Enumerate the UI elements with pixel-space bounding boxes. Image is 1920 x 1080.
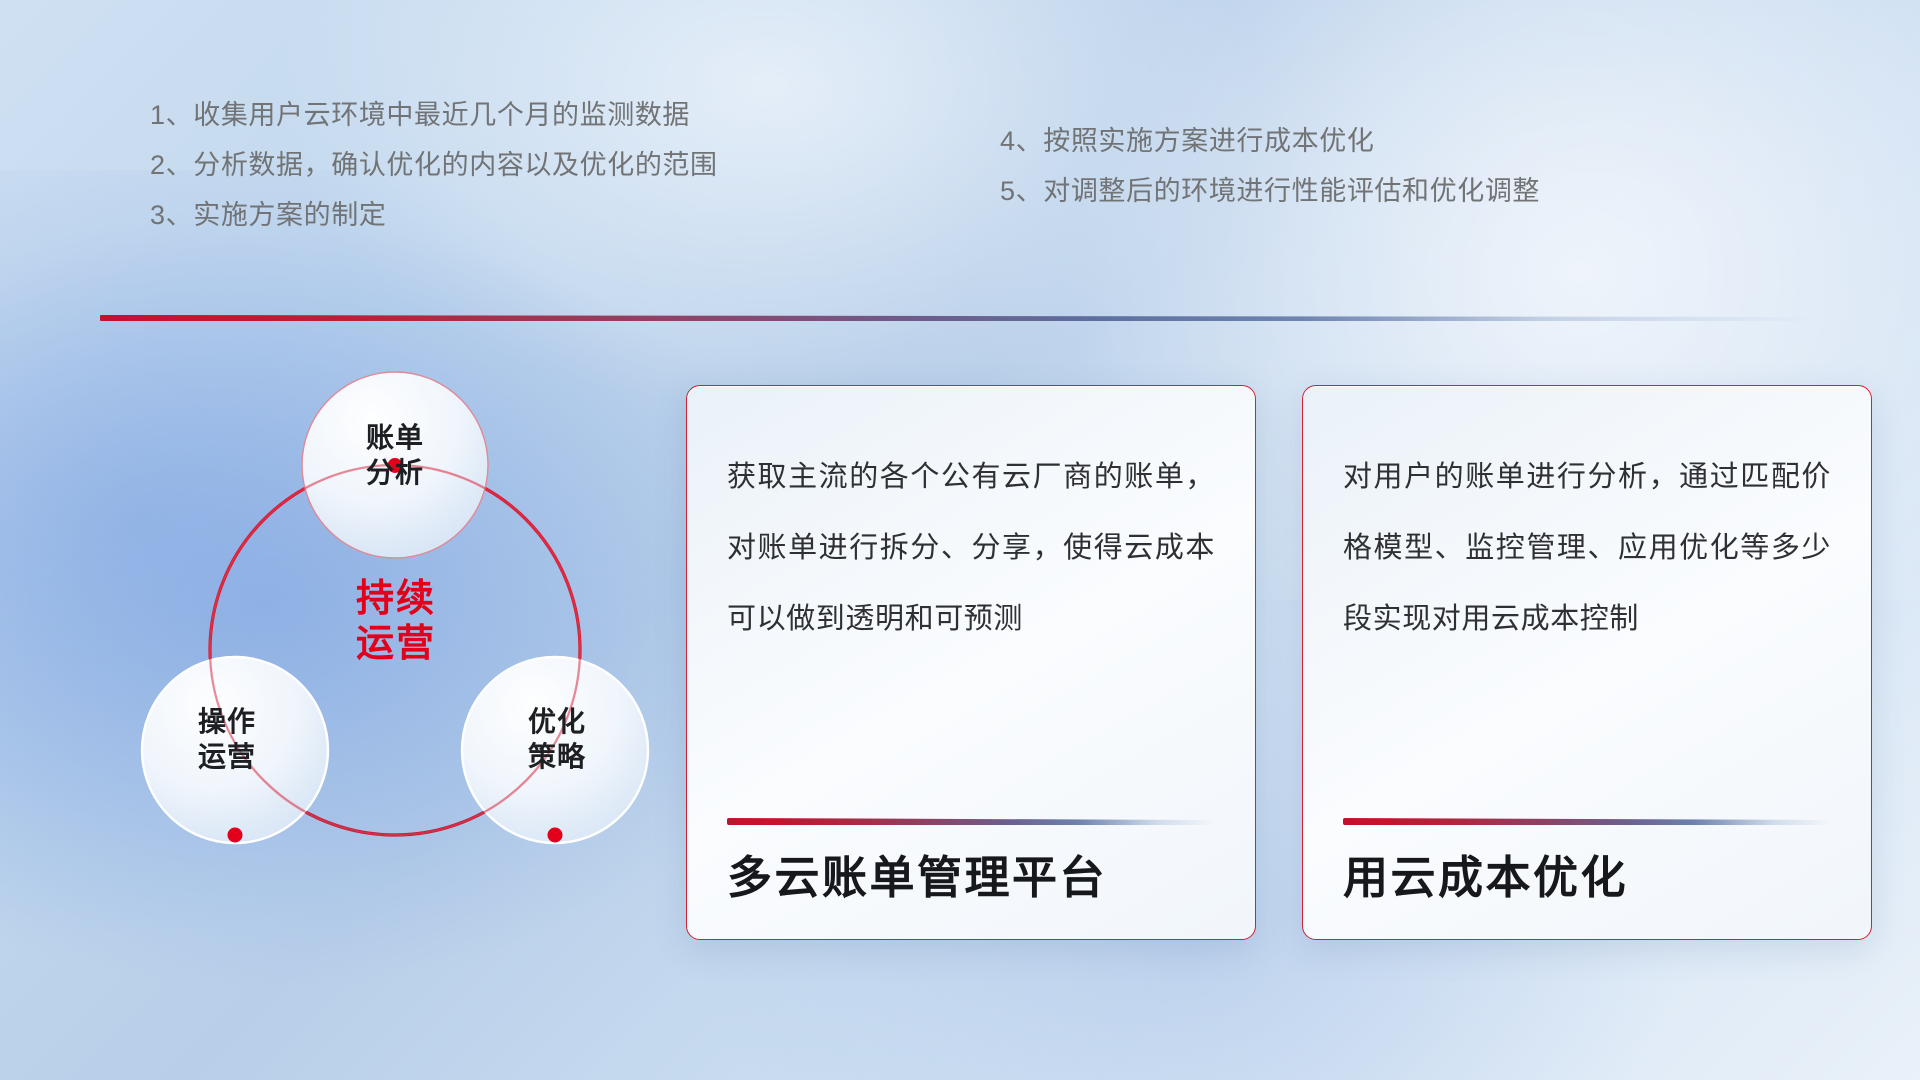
card-divider <box>727 818 1215 825</box>
step-item-5: 5、对调整后的环境进行性能评估和优化调整 <box>1000 178 1540 205</box>
card-description: 获取主流的各个公有云厂商的账单，对账单进行拆分、分享，使得云成本可以做到透明和可… <box>727 442 1215 655</box>
card-title: 多云账单管理平台 <box>727 851 1215 905</box>
step-item-4: 4、按照实施方案进行成本优化 <box>1000 128 1540 155</box>
steps-list-right: 4、按照实施方案进行成本优化 5、对调整后的环境进行性能评估和优化调整 <box>1000 128 1540 228</box>
connector-dot-top <box>388 458 403 473</box>
slide-canvas: 1、收集用户云环境中最近几个月的监测数据 2、分析数据，确认优化的内容以及优化的… <box>0 0 1920 1080</box>
card-description: 对用户的账单进行分析，通过匹配价格模型、监控管理、应用优化等多少段实现对用云成本… <box>1343 442 1831 655</box>
connector-dot-right <box>548 828 563 843</box>
steps-list-left: 1、收集用户云环境中最近几个月的监测数据 2、分析数据，确认优化的内容以及优化的… <box>150 102 718 252</box>
feature-card-cost-optimization[interactable]: 对用户的账单进行分析，通过匹配价格模型、监控管理、应用优化等多少段实现对用云成本… <box>1302 385 1872 940</box>
node-circle-policy <box>462 657 648 843</box>
step-item-2: 2、分析数据，确认优化的内容以及优化的范围 <box>150 152 718 179</box>
step-item-1: 1、收集用户云环境中最近几个月的监测数据 <box>150 102 718 129</box>
node-circle-ops <box>142 657 328 843</box>
card-title: 用云成本优化 <box>1343 851 1831 905</box>
feature-card-multicloud-billing[interactable]: 获取主流的各个公有云厂商的账单，对账单进行拆分、分享，使得云成本可以做到透明和可… <box>686 385 1256 940</box>
section-divider-rule <box>100 315 1817 321</box>
step-item-3: 3、实施方案的制定 <box>150 202 718 229</box>
continuous-operations-diagram: 账单 分析 操作 运营 优化 策略 持续 运营 <box>100 355 640 935</box>
card-divider <box>1343 818 1831 825</box>
connector-dot-left <box>228 828 243 843</box>
